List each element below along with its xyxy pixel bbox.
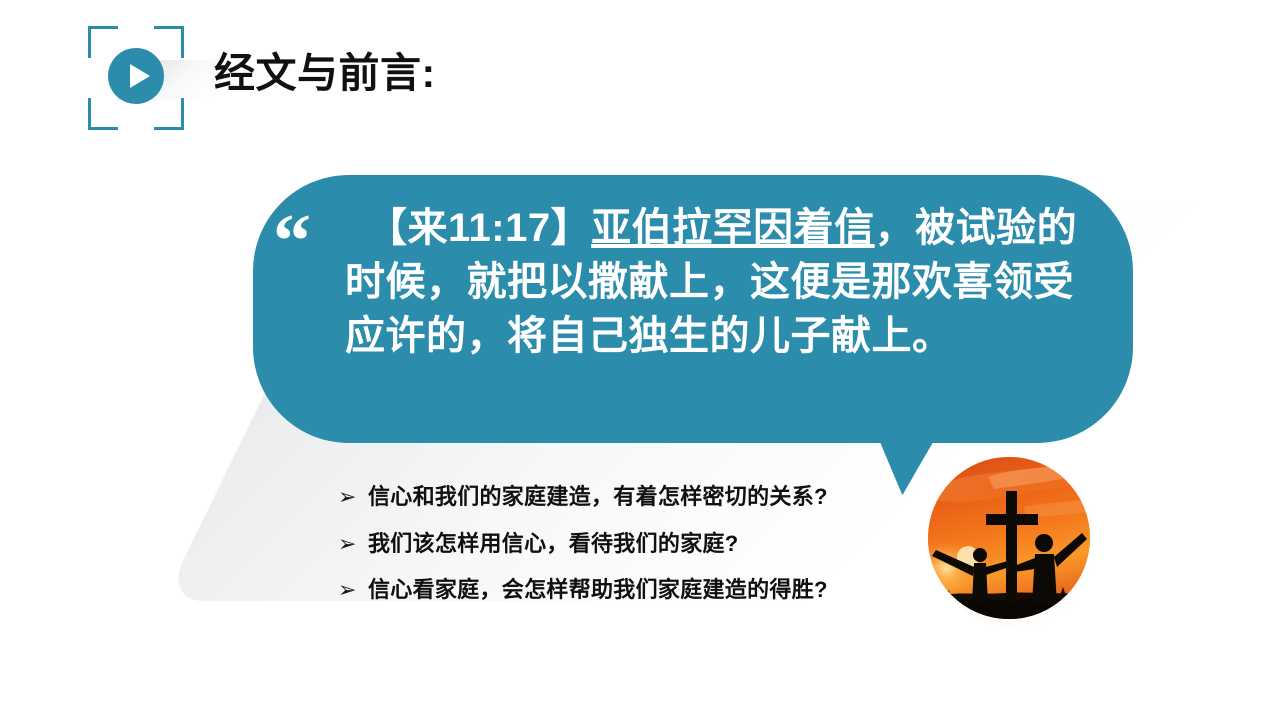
quote-mark-icon: “	[273, 203, 311, 279]
list-item-label: 信心看家庭，会怎样帮助我们家庭建造的得胜?	[368, 576, 828, 604]
arrow-bullet-icon: ➢	[338, 534, 368, 556]
slide-canvas: 经文与前言: “ 【来11:17】亚伯拉罕因着信，被试验的时候，就把以撒献上，这…	[0, 0, 1280, 720]
list-item-label: 我们该怎样用信心，看待我们的家庭?	[368, 530, 739, 558]
frame-corner-bottom-right	[154, 98, 184, 130]
slide-header: 经文与前言:	[0, 0, 1280, 150]
arrow-bullet-icon: ➢	[338, 487, 368, 509]
frame-corner-top-right	[154, 26, 184, 58]
play-triangle-glyph	[130, 64, 150, 88]
list-item-label: 信心和我们的家庭建造，有着怎样密切的关系?	[368, 483, 828, 511]
frame-corner-bottom-left	[88, 98, 118, 130]
page-title: 经文与前言:	[214, 50, 436, 97]
cross-silhouette-sunset-photo	[928, 457, 1090, 619]
question-list: ➢ 信心和我们的家庭建造，有着怎样密切的关系? ➢ 我们该怎样用信心，看待我们的…	[338, 483, 938, 623]
cross-sunset-illustration	[928, 457, 1090, 619]
quote-text: 【来11:17】亚伯拉罕因着信，被试验的时候，就把以撒献上，这便是那欢喜领受应许…	[345, 201, 1085, 363]
quote-underlined-phrase: 亚伯拉罕因着信	[591, 206, 875, 250]
play-button-icon	[108, 48, 164, 104]
quote-bubble: “ 【来11:17】亚伯拉罕因着信，被试验的时候，就把以撒献上，这便是那欢喜领受…	[253, 175, 1133, 465]
list-item: ➢ 信心看家庭，会怎样帮助我们家庭建造的得胜?	[338, 576, 938, 604]
photo-container	[928, 457, 1090, 619]
arrow-bullet-icon: ➢	[338, 580, 368, 602]
quote-reference: 【来11:17】	[367, 206, 591, 250]
list-item: ➢ 我们该怎样用信心，看待我们的家庭?	[338, 530, 938, 558]
list-item: ➢ 信心和我们的家庭建造，有着怎样密切的关系?	[338, 483, 938, 511]
frame-corner-top-left	[88, 26, 118, 58]
play-logo-badge	[88, 26, 184, 130]
